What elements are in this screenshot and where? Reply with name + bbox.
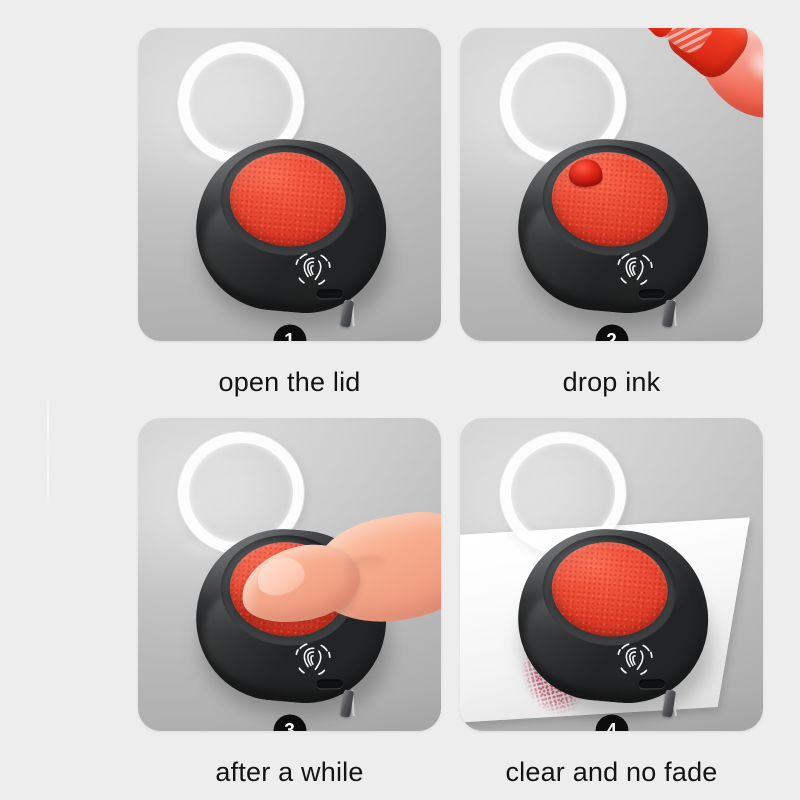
lanyard-slot-icon	[317, 289, 343, 298]
step-photo-4: 4	[460, 418, 763, 731]
scene-1	[138, 28, 441, 341]
scene-2	[460, 28, 763, 341]
fingerprint-icon	[609, 246, 660, 292]
step-photo-2: 2	[460, 28, 763, 341]
lanyard-slot-icon	[317, 679, 343, 688]
lanyard-slot-icon	[639, 679, 665, 688]
scene-3	[138, 418, 441, 731]
ink-pad-device	[188, 132, 399, 330]
step-caption: after a while	[138, 757, 441, 788]
step-card-4[interactable]: 4 clear and no fade	[460, 418, 763, 788]
step-caption: drop ink	[460, 367, 763, 398]
background-artifact	[47, 395, 49, 505]
fingerprint-icon	[287, 246, 338, 292]
step-card-2[interactable]: 2 drop ink	[460, 28, 763, 398]
steps-grid: 1 open the lid	[138, 28, 760, 773]
step-caption: clear and no fade	[460, 757, 763, 788]
step-card-1[interactable]: 1 open the lid	[138, 28, 441, 398]
step-photo-3: 3	[138, 418, 441, 731]
step-photo-1: 1	[138, 28, 441, 341]
ink-pad-device	[510, 522, 721, 720]
lanyard-slot-icon	[639, 289, 665, 298]
scene-4	[460, 418, 763, 731]
step-caption: open the lid	[138, 367, 441, 398]
fingerprint-icon	[609, 636, 660, 682]
step-card-3[interactable]: 3 after a while	[138, 418, 441, 788]
